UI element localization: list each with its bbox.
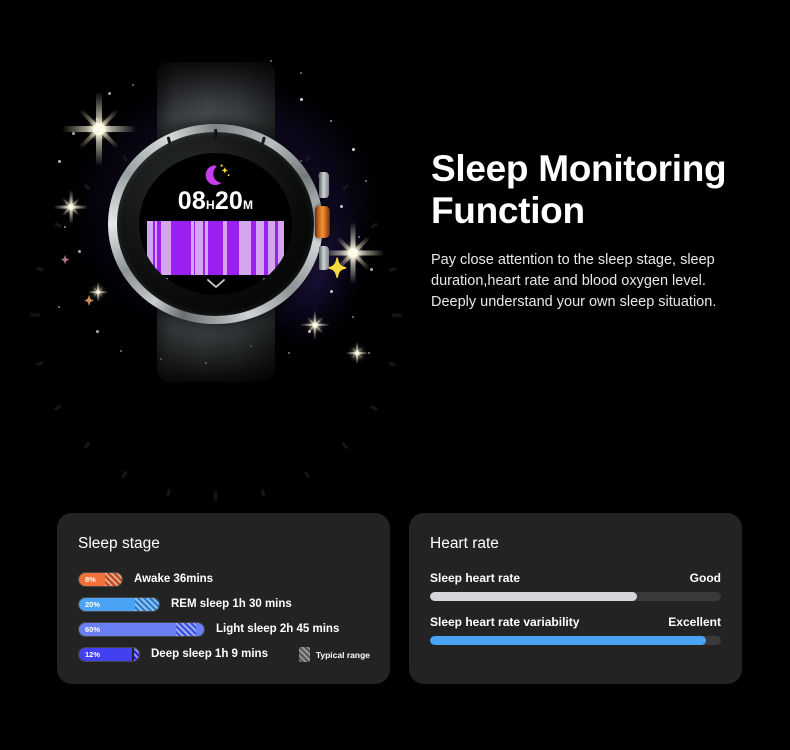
heart-rate-track xyxy=(430,592,721,601)
bezel-tick xyxy=(388,362,395,366)
heart-rate-rating: Good xyxy=(690,571,721,585)
bezel-tick xyxy=(83,442,90,449)
sleep-stage-percent: 12% xyxy=(79,650,100,659)
substat-value-left: 03H 20M xyxy=(182,293,205,295)
watch-crown-button[interactable] xyxy=(315,206,330,238)
bezel-tick xyxy=(304,471,310,478)
sleep-stage-percent: 8% xyxy=(79,575,96,584)
sleep-stage-bar: 12% xyxy=(78,647,140,662)
sleep-stage-bar-hatch xyxy=(176,623,196,636)
headline-line-1: Sleep Monitoring xyxy=(431,148,726,189)
typical-range-legend: Typical range xyxy=(299,647,370,662)
star-dot xyxy=(58,306,60,308)
bezel-tick xyxy=(261,137,265,144)
hypnogram-segment xyxy=(161,221,171,275)
heart-rate-row-head: Sleep heart rateGood xyxy=(430,571,721,585)
substat-hours: 03 xyxy=(182,292,199,295)
sparkle-star-icon xyxy=(54,190,88,224)
hypnogram-segment xyxy=(278,221,284,275)
sleep-stage-bar: 60% xyxy=(78,622,205,637)
total-sleep-hours: 08 xyxy=(178,187,206,215)
page-root: 08H20M 10:30 06:50 xyxy=(0,0,790,750)
sleep-stage-title: Sleep stage xyxy=(78,535,369,553)
bezel-tick xyxy=(214,129,218,139)
page-title: Sleep Monitoring Function xyxy=(431,148,771,232)
sleep-stage-bar-hatch xyxy=(135,598,160,611)
heart-rate-track xyxy=(430,636,721,645)
heart-rate-rating: Excellent xyxy=(668,615,721,629)
star-dot xyxy=(78,250,81,253)
crescent-moon-icon xyxy=(199,162,233,190)
hypnogram-segment xyxy=(242,221,252,275)
heart-rate-rows: Sleep heart rateGoodSleep heart rate var… xyxy=(430,571,721,645)
yellow-star-icon xyxy=(83,295,96,308)
bezel-tick xyxy=(166,137,170,144)
sleep-stage-card: Sleep stage 8%Awake 36mins20%REM sleep 1… xyxy=(57,513,390,684)
bezel-tick xyxy=(166,489,170,496)
sleep-stage-percent: 20% xyxy=(79,600,100,609)
bezel-tick xyxy=(36,267,43,271)
heart-rate-title: Heart rate xyxy=(430,535,721,553)
sleep-stage-row: 8%Awake 36mins xyxy=(78,571,369,587)
bezel-tick xyxy=(388,267,395,271)
watch-case: 08H20M 10:30 06:50 xyxy=(108,124,323,324)
headline-line-2: Function xyxy=(431,190,585,231)
bezel-tick xyxy=(30,313,40,317)
sleep-stage-bar: 20% xyxy=(78,597,160,612)
bezel-tick xyxy=(36,362,43,366)
star-dot xyxy=(330,290,333,293)
bezel-tick xyxy=(54,405,61,411)
hero-copy: Sleep Monitoring Function Pay close atte… xyxy=(431,148,771,312)
substat-left: 03H 20M xyxy=(159,293,205,295)
star-dot xyxy=(96,330,99,333)
sleep-stage-bar: 8% xyxy=(78,572,123,587)
star-dot xyxy=(368,352,370,354)
sparkle-star-icon xyxy=(346,342,368,364)
heart-rate-fill xyxy=(430,636,706,645)
heart-rate-card: Heart rate Sleep heart rateGoodSleep hea… xyxy=(409,513,742,684)
bezel-tick xyxy=(121,155,127,162)
hypnogram-segment xyxy=(256,221,264,275)
watch-screen[interactable]: 08H20M 10:30 06:50 xyxy=(139,153,292,295)
watch-side-button-bottom[interactable] xyxy=(319,246,329,270)
star-dot xyxy=(340,205,343,208)
hypnogram-segment xyxy=(227,221,238,275)
bezel-tick xyxy=(370,405,377,411)
sleep-stage-bar-hatch xyxy=(134,648,140,661)
star-dot xyxy=(58,160,61,163)
bezel-tick xyxy=(261,489,265,496)
axis-start-label: 10:30 xyxy=(148,277,168,286)
yellow-star-icon xyxy=(60,255,71,266)
substat-right: 03H 20M xyxy=(226,293,272,295)
axis-end-label: 06:50 xyxy=(263,277,283,286)
watch-total-sleep: 08H20M xyxy=(139,189,292,214)
sleep-stage-row: 60%Light sleep 2h 45 mins xyxy=(78,621,369,637)
unit-h: H xyxy=(206,198,215,212)
hypnogram-chart xyxy=(147,221,284,275)
sleep-stage-label: Awake 36mins xyxy=(134,573,213,585)
bezel-tick xyxy=(214,491,218,501)
heart-rate-fill xyxy=(430,592,637,601)
hypnogram-segment xyxy=(175,221,191,275)
watch-side-button-top[interactable] xyxy=(319,172,329,198)
watch-substats: 03H 20M xyxy=(139,293,292,295)
heart-rate-row: Sleep heart rateGood xyxy=(430,571,721,601)
sleep-stage-bar-hatch xyxy=(105,573,123,586)
sleep-stage-label: REM sleep 1h 30 mins xyxy=(171,598,292,610)
substat-hours: 03 xyxy=(249,292,266,295)
bezel-tick xyxy=(392,313,402,317)
sleep-stage-percent: 60% xyxy=(79,625,100,634)
sleep-stage-label: Light sleep 2h 45 mins xyxy=(216,623,339,635)
hero-section: 08H20M 10:30 06:50 xyxy=(0,0,790,470)
hero-description: Pay close attention to the sleep stage, … xyxy=(431,250,731,312)
watch-bezel: 08H20M 10:30 06:50 xyxy=(117,132,314,316)
sleep-stage-label: Deep sleep 1h 9 mins xyxy=(151,648,268,660)
hypnogram-segment xyxy=(195,221,203,275)
heart-rate-row-head: Sleep heart rate variabilityExcellent xyxy=(430,615,721,629)
hypnogram-segment xyxy=(268,221,275,275)
substat-value-right: 03H 20M xyxy=(249,293,272,295)
sleep-stage-row: 20%REM sleep 1h 30 mins xyxy=(78,596,369,612)
hypnogram-segment xyxy=(210,221,223,275)
heart-rate-row: Sleep heart rate variabilityExcellent xyxy=(430,615,721,645)
bezel-tick xyxy=(341,442,348,449)
heart-rate-metric-name: Sleep heart rate xyxy=(430,571,520,585)
heart-rate-metric-name: Sleep heart rate variability xyxy=(430,615,579,629)
typical-range-label: Typical range xyxy=(316,650,370,660)
total-sleep-minutes: 20 xyxy=(215,187,243,215)
bezel-tick xyxy=(304,155,310,162)
hatch-swatch-icon xyxy=(299,647,310,662)
unit-m: M xyxy=(243,198,253,212)
chevron-down-icon[interactable] xyxy=(206,278,226,289)
smartwatch: 08H20M 10:30 06:50 xyxy=(108,62,323,382)
stats-cards: Sleep stage 8%Awake 36mins20%REM sleep 1… xyxy=(57,513,742,684)
bezel-tick xyxy=(121,471,127,478)
